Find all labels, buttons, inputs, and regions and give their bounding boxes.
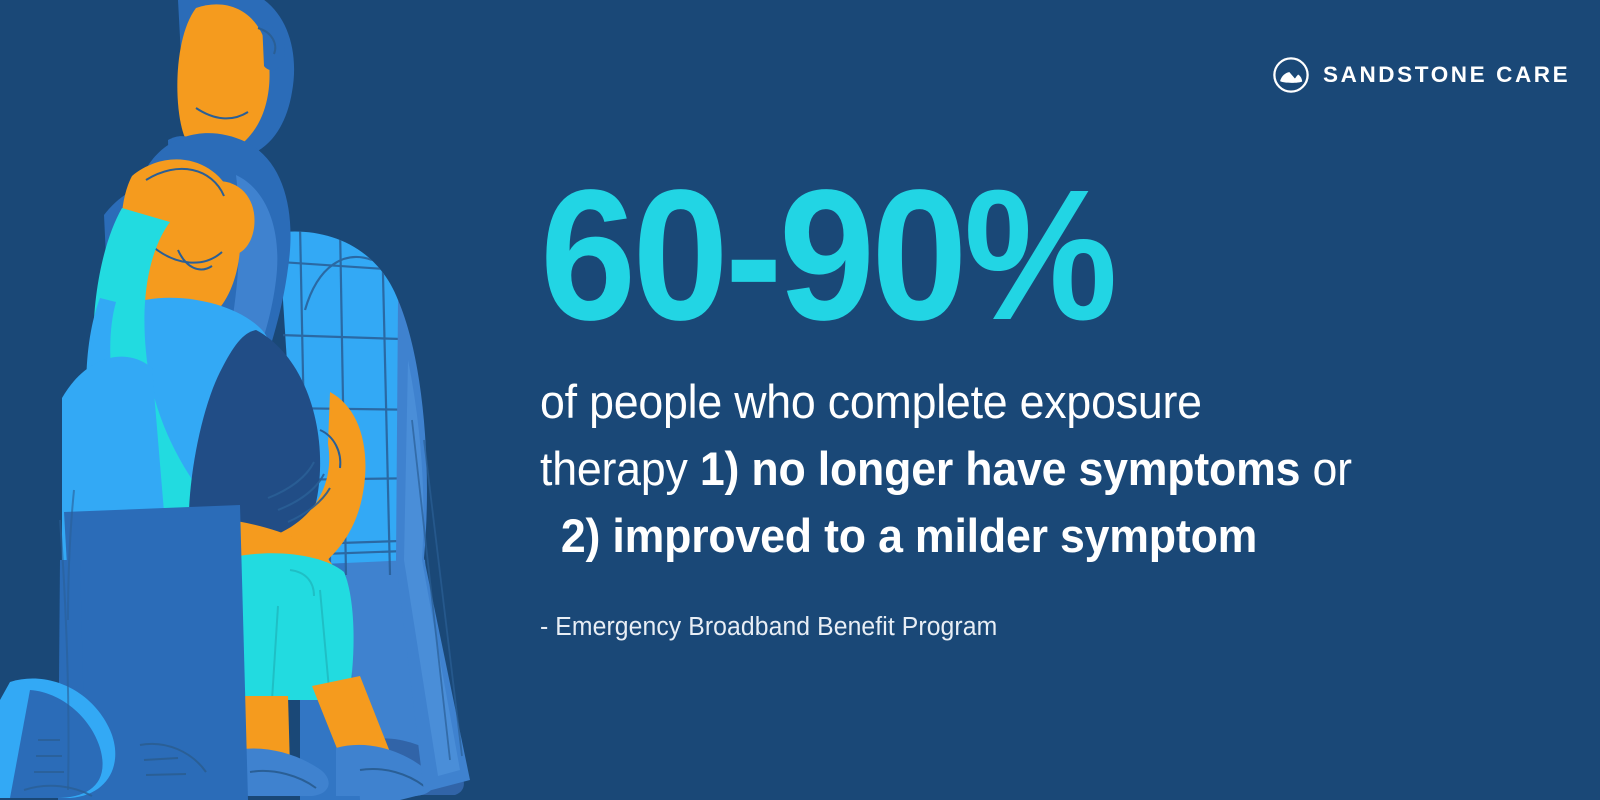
body-copy: of people who complete exposure therapy … <box>540 369 1471 569</box>
infographic-canvas: SANDSTONE CARE 60-90% of people who comp… <box>0 0 1600 800</box>
source-attribution: - Emergency Broadband Benefit Program <box>540 613 1491 642</box>
body-line-2-prefix: therapy <box>540 442 700 495</box>
brand-logo: SANDSTONE CARE <box>1272 55 1570 95</box>
circle-mountain-logo-icon <box>1272 56 1310 94</box>
body-line-2-suffix: or <box>1300 442 1352 495</box>
headline-statistic: 60-90% <box>540 170 1451 341</box>
body-line-1: of people who complete exposure <box>540 369 1471 436</box>
body-line-2: therapy 1) no longer have symptoms or <box>540 436 1471 503</box>
brand-name: SANDSTONE CARE <box>1323 62 1570 88</box>
body-line-1-text: of people who complete exposure <box>540 375 1202 428</box>
body-line-3: 2) improved to a milder symptom <box>540 503 1471 570</box>
statistic-content: 60-90% of people who complete exposure t… <box>540 170 1520 642</box>
body-line-3-bold: 2) improved to a milder symptom <box>561 509 1257 562</box>
three-people-hugging-illustration <box>0 0 540 800</box>
body-line-2-bold: 1) no longer have symptoms <box>700 442 1300 495</box>
